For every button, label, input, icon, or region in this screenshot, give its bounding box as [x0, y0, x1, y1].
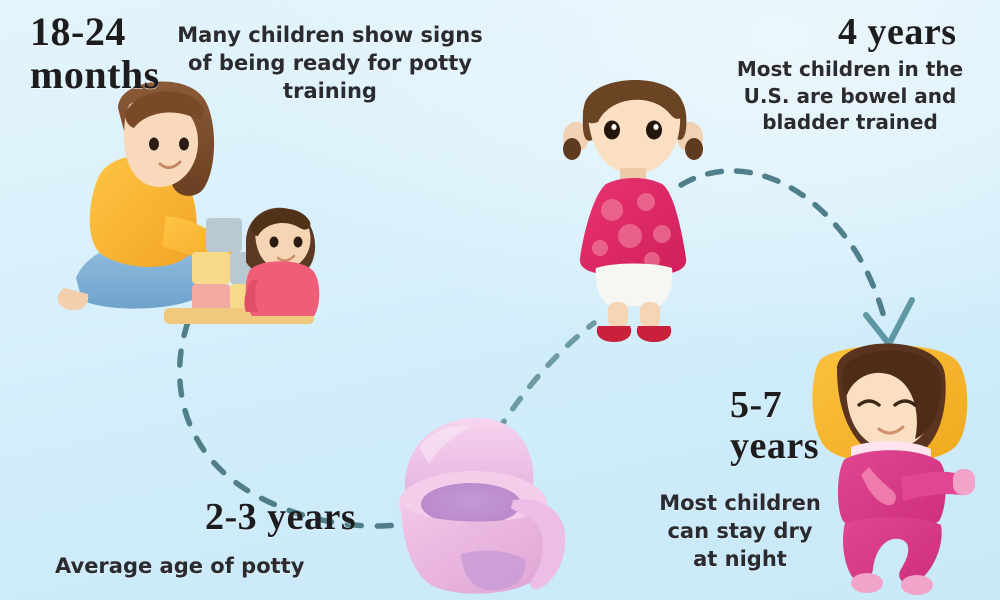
- milestone-body-4-years: Most children in the U.S. are bowel and …: [700, 56, 1000, 136]
- body-line: Many children show signs: [150, 22, 510, 50]
- toddler-figure: [244, 208, 319, 316]
- milestone-heading-2-3-years: 2-3 years: [205, 497, 356, 538]
- body-line: U.S. are bowel and: [700, 83, 1000, 110]
- milestone-heading-4-years: 4 years: [838, 12, 957, 53]
- milestone-body-2-3-years: Average age of potty: [55, 553, 405, 581]
- illustration-standing-girl: [548, 52, 718, 352]
- body-line: Average age of potty: [55, 553, 405, 581]
- milestone-heading-5-7-years: 5-7 years: [730, 385, 850, 467]
- body-line: bladder trained: [700, 109, 1000, 136]
- body-line: at night: [615, 546, 865, 574]
- heading-line: 5-7: [730, 385, 850, 426]
- milestone-body-5-7-years: Most children can stay dry at night: [615, 490, 865, 574]
- body-line: Most children: [615, 490, 865, 518]
- illustration-mother-and-toddler: [46, 66, 346, 336]
- milestone-body-18-24-months: Many children show signs of being ready …: [150, 22, 510, 106]
- body-line: can stay dry: [615, 518, 865, 546]
- body-line: Most children in the: [700, 56, 1000, 83]
- body-line: training: [150, 78, 510, 106]
- body-line: of being ready for potty: [150, 50, 510, 78]
- illustration-potty-chair: [385, 408, 590, 600]
- infographic-canvas: 18-24 months Many children show signs of…: [0, 0, 1000, 600]
- heading-line: years: [730, 426, 850, 467]
